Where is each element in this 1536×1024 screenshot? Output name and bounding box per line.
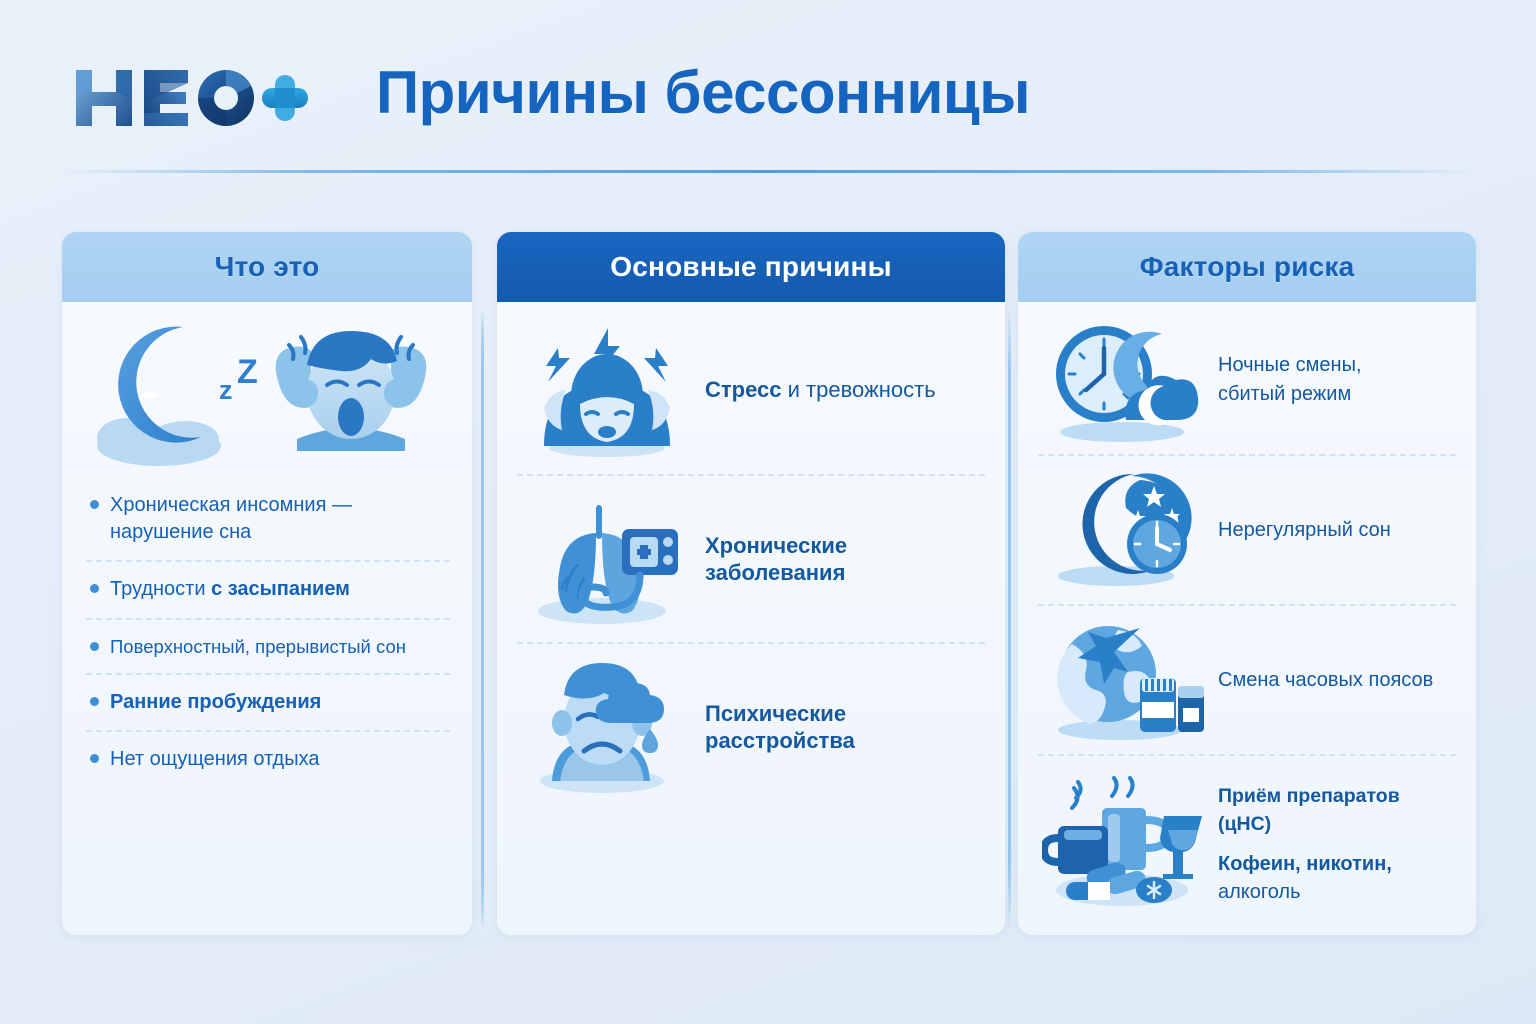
cause-label-bold: Психические расстройства [705,701,855,754]
cause-label: Стресс и тревожность [705,376,936,404]
what-bullet-list: Хроническая инсомния — нарушение сна Тру… [62,472,472,787]
sad-person-raincloud-icon [517,657,697,797]
list-item: Приём препаратов (цНС) Кофеин, никотин,а… [1038,754,1456,932]
cause-label-bold: Хронические заболевания [705,533,847,586]
lungs-bp-monitor-icon [517,489,697,629]
card-risks-heading: Факторы риска [1018,232,1476,302]
bullet-label: Хроническая инсомния — нарушение сна [110,492,450,546]
card-what-heading: Что это [62,232,472,302]
cause-label: Психические расстройства [705,700,985,755]
brand-logo [70,62,310,134]
svg-text:Z: Z [237,353,258,391]
yawning-person-icon [276,331,427,451]
list-item: Нет ощущения отдыха [86,730,450,787]
bullet-dot-icon [90,754,99,763]
list-item: Нерегулярный сон [1038,454,1456,604]
risk-label-line1: Нерегулярный сон [1218,519,1391,541]
bullet-label: Поверхностный, прерывистый сон [110,634,450,659]
risk-label-line2: сбитый режим [1218,380,1362,409]
bullet-label: Нет ощущения отдыха [110,746,450,773]
bullet-label: Трудности с засыпанием [110,576,450,603]
list-item: Хроническая инсомния — нарушение сна [86,478,450,560]
moon-zzz-icon: z Z [97,327,258,466]
bullet-label-pre: Трудности [110,578,211,600]
list-item: Смена часовых поясов [1038,604,1456,754]
risk-label-line2: Кофеин, никотин, [1218,853,1392,875]
column-divider-right [1008,308,1011,930]
list-item: Ночные смены, сбитый режим [1038,306,1456,454]
card-main-causes: Основные причины [497,232,1005,935]
list-item: Стресс и тревожность [517,306,985,474]
what-illustration: z Z [62,302,472,472]
bullet-label: Ранние пробуждения [110,689,450,716]
header-divider [62,170,1474,173]
risk-label: Приём препаратов (цНС) Кофеин, никотин,а… [1218,782,1456,907]
risk-label: Смена часовых поясов [1218,666,1433,695]
causes-list: Стресс и тревожность [497,302,1005,810]
bullet-dot-icon [90,584,99,593]
bullet-dot-icon [90,697,99,706]
list-item: Ранние пробуждения [86,673,450,730]
bullet-label-bold: с засыпанием [211,578,350,600]
risk-label-line1: Приём препаратов (цНС) [1218,782,1456,839]
globe-plane-pills-icon [1038,616,1210,744]
risk-label-line1: Смена часовых поясов [1218,669,1433,691]
coffee-wine-pills-icon [1038,774,1210,914]
list-item: Трудности с засыпанием [86,560,450,617]
svg-text:z: z [219,375,233,405]
risk-label: Нерегулярный сон [1218,516,1391,545]
risk-label-line3: алкоголь [1218,881,1301,903]
list-item: Поверхностный, прерывистый сон [86,618,450,673]
moon-stars-clock-icon [1038,466,1210,594]
column-divider-left-line [481,308,484,930]
stressed-head-lightning-icon [517,320,697,460]
card-risk-factors: Факторы риска [1018,232,1476,935]
cards-board: Что это z [0,200,1536,960]
bullet-dot-icon [90,642,99,651]
card-what-is-it: Что это z [62,232,472,935]
clock-moon-icon [1038,316,1210,444]
risk-label: Ночные смены, сбитый режим [1218,351,1362,409]
page-title: Причины бессонницы [376,58,1030,127]
list-item: Психические расстройства [517,642,985,810]
cause-label-regular: и тревожность [782,377,936,402]
risks-list: Ночные смены, сбитый режим [1018,302,1476,932]
list-item: Хронические заболевания [517,474,985,642]
risk-label-line1: Ночные смены, [1218,354,1362,376]
cause-label-bold: Стресс [705,377,782,402]
card-causes-heading: Основные причины [497,232,1005,302]
page-header: Причины бессонницы [0,0,1536,172]
bullet-dot-icon [90,500,99,509]
cause-label: Хронические заболевания [705,532,985,587]
